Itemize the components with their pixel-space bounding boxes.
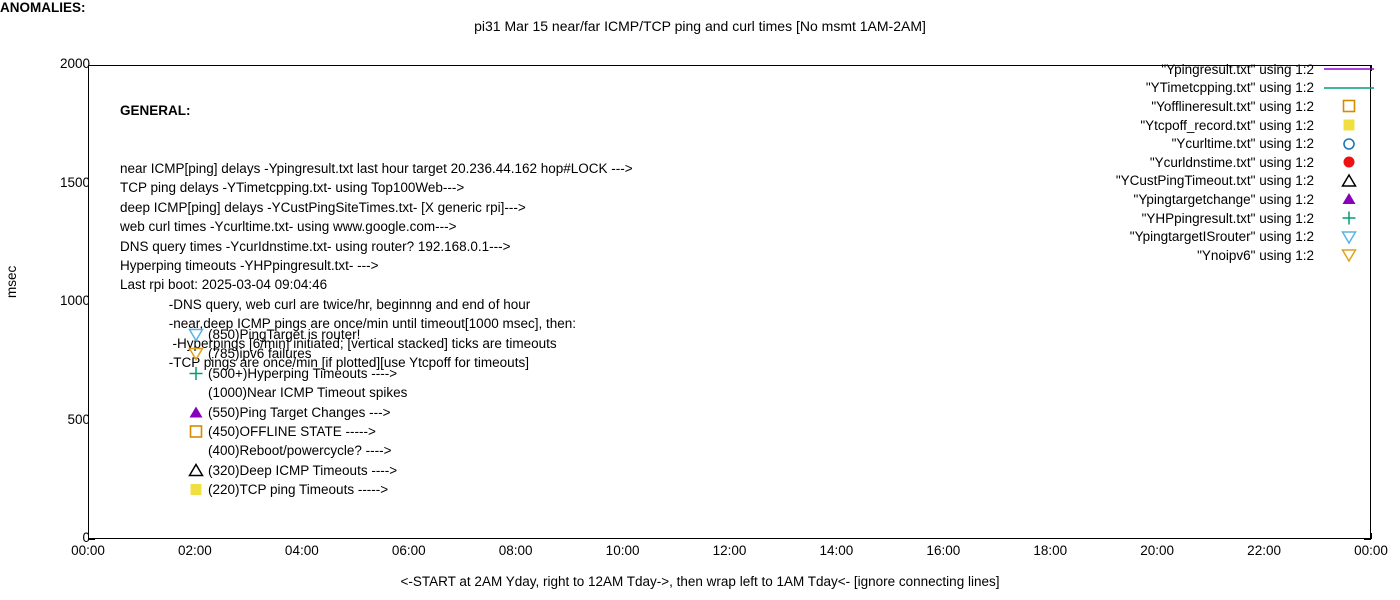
legend-item[interactable]: "Ypingresult.txt" using 1:2 — [1016, 60, 1376, 79]
legend-open-inv-triangle-icon — [1322, 228, 1376, 246]
legend-item[interactable]: "YTimetcpping.txt" using 1:2 — [1016, 79, 1376, 98]
y-tick-mark — [1364, 539, 1371, 540]
legend-item-label: "YCustPingTimeout.txt" using 1:2 — [1116, 173, 1322, 188]
legend-item[interactable]: "YCustPingTimeout.txt" using 1:2 — [1016, 172, 1376, 191]
legend-item-label: "Ypingresult.txt" using 1:2 — [1161, 62, 1322, 77]
x-tick-label: 08:00 — [499, 543, 533, 558]
x-tick-label: 12:00 — [713, 543, 747, 558]
legend-item-label: "Ytcpoff_record.txt" using 1:2 — [1140, 118, 1322, 133]
anomalies-list: (850)PingTarget is router!(785)ipv6 fail… — [208, 325, 407, 500]
chart-page: pi31 Mar 15 near/far ICMP/TCP ping and c… — [0, 0, 1400, 600]
anomaly-item: (785)ipv6 failures — [208, 344, 407, 363]
legend-item[interactable]: "YpingtargetISrouter" using 1:2 — [1016, 227, 1376, 246]
anomaly-filled-triangle-icon — [186, 403, 206, 422]
legend-line-icon — [1322, 60, 1376, 78]
legend-line-icon — [1322, 79, 1376, 97]
anomaly-open-inv-triangle-icon — [186, 325, 206, 344]
x-tick-label: 20:00 — [1140, 543, 1174, 558]
y-tick-label: 1500 — [30, 175, 90, 190]
anomaly-open-inv-triangle-icon — [186, 344, 206, 363]
x-tick-label: 16:00 — [926, 543, 960, 558]
anomalies-heading: ANOMALIES: — [0, 0, 1400, 15]
legend-filled-triangle-icon — [1322, 190, 1376, 208]
anomaly-open-square-icon — [186, 422, 206, 441]
anomaly-item-label: (220)TCP ping Timeouts -----> — [208, 482, 388, 497]
general-note-line: TCP ping delays -YTimetcpping.txt- using… — [120, 178, 633, 197]
x-tick-mark — [1371, 533, 1372, 539]
y-tick-label: 2000 — [30, 56, 90, 71]
x-tick-label: 04:00 — [285, 543, 319, 558]
anomaly-item-label: (550)Ping Target Changes ---> — [208, 405, 390, 420]
general-note-line: web curl times -Ycurltime.txt- using www… — [120, 217, 633, 236]
general-note-line: Last rpi boot: 2025-03-04 09:04:46 — [120, 275, 633, 294]
legend-item-label: "Ycurltime.txt" using 1:2 — [1172, 136, 1322, 151]
anomaly-item: (850)PingTarget is router! — [208, 325, 407, 344]
anomaly-item: (400)Reboot/powercycle? ----> — [208, 441, 407, 460]
page-title: pi31 Mar 15 near/far ICMP/TCP ping and c… — [0, 18, 1400, 34]
anomaly-plus-icon — [186, 364, 206, 383]
legend-item[interactable]: "YHPpingresult.txt" using 1:2 — [1016, 209, 1376, 228]
anomaly-item-label: (850)PingTarget is router! — [208, 327, 360, 342]
general-heading: GENERAL: — [120, 101, 633, 120]
anomaly-item: (550)Ping Target Changes ---> — [208, 403, 407, 422]
legend-item[interactable]: "Ytcpoff_record.txt" using 1:2 — [1016, 116, 1376, 135]
legend-item-label: "Yofflineresult.txt" using 1:2 — [1151, 99, 1322, 114]
legend-item[interactable]: "Ycurldnstime.txt" using 1:2 — [1016, 153, 1376, 172]
y-tick-label: 500 — [30, 412, 90, 427]
general-note-line: near ICMP[ping] delays -Ypingresult.txt … — [120, 159, 633, 178]
general-note-line: deep ICMP[ping] delays -YCustPingSiteTim… — [120, 198, 633, 217]
anomaly-item-label: (450)OFFLINE STATE -----> — [208, 424, 376, 439]
anomaly-item: (450)OFFLINE STATE -----> — [208, 422, 407, 441]
x-tick-label: 00:00 — [71, 543, 105, 558]
anomaly-item-label: (320)Deep ICMP Timeouts ----> — [208, 463, 397, 478]
anomaly-open-triangle-icon — [186, 461, 206, 480]
legend-item-label: "YHPpingresult.txt" using 1:2 — [1142, 211, 1322, 226]
general-note-line: Hyperping timeouts -YHPpingresult.txt- -… — [120, 256, 633, 275]
y-tick-label: 1000 — [30, 293, 90, 308]
legend-item[interactable]: "Ypingtargetchange" using 1:2 — [1016, 190, 1376, 209]
anomaly-item: (320)Deep ICMP Timeouts ----> — [208, 461, 407, 480]
anomaly-item-label: (500+)Hyperping Timeouts ----> — [208, 366, 397, 381]
legend-open-triangle-icon — [1322, 172, 1376, 190]
legend-item[interactable]: "Yofflineresult.txt" using 1:2 — [1016, 97, 1376, 116]
legend: "Ypingresult.txt" using 1:2"YTimetcpping… — [1016, 60, 1376, 265]
anomaly-item-label: (400)Reboot/powercycle? ----> — [208, 443, 391, 458]
legend-plus-icon — [1322, 209, 1376, 227]
anomaly-item: (220)TCP ping Timeouts -----> — [208, 480, 407, 499]
x-tick-label: 14:00 — [820, 543, 854, 558]
legend-item[interactable]: "Ynoipv6" using 1:2 — [1016, 246, 1376, 265]
legend-item[interactable]: "Ycurltime.txt" using 1:2 — [1016, 134, 1376, 153]
x-tick-label: 00:00 — [1354, 543, 1388, 558]
legend-item-label: "Ycurldnstime.txt" using 1:2 — [1150, 155, 1322, 170]
y-tick-mark — [88, 539, 95, 540]
anomaly-item-label: (785)ipv6 failures — [208, 346, 312, 361]
legend-item-label: "YTimetcpping.txt" using 1:2 — [1146, 80, 1322, 95]
legend-open-square-icon — [1322, 97, 1376, 115]
x-tick-label: 10:00 — [606, 543, 640, 558]
legend-filled-circle-icon — [1322, 153, 1376, 171]
x-tick-label: 02:00 — [178, 543, 212, 558]
legend-open-inv-triangle-icon — [1322, 246, 1376, 264]
y-axis-label: msec — [4, 266, 19, 298]
legend-item-label: "Ypingtargetchange" using 1:2 — [1134, 192, 1322, 207]
x-tick-label: 22:00 — [1247, 543, 1281, 558]
legend-item-label: "YpingtargetISrouter" using 1:2 — [1130, 229, 1322, 244]
x-axis-caption: <-START at 2AM Yday, right to 12AM Tday-… — [0, 574, 1400, 589]
anomaly-filled-square-icon — [186, 480, 206, 499]
general-note-line: DNS query times -YcurIdnstime.txt- using… — [120, 237, 633, 256]
legend-open-circle-icon — [1322, 135, 1376, 153]
anomaly-item: (500+)Hyperping Timeouts ----> — [208, 364, 407, 383]
x-tick-label: 06:00 — [392, 543, 426, 558]
legend-item-label: "Ynoipv6" using 1:2 — [1197, 248, 1322, 263]
anomaly-item-label: (1000)Near ICMP Timeout spikes — [208, 385, 407, 400]
legend-filled-square-icon — [1322, 116, 1376, 134]
general-note-line: -DNS query, web curl are twice/hr, begin… — [120, 295, 633, 314]
anomaly-item: (1000)Near ICMP Timeout spikes — [208, 383, 407, 402]
x-tick-label: 18:00 — [1033, 543, 1067, 558]
